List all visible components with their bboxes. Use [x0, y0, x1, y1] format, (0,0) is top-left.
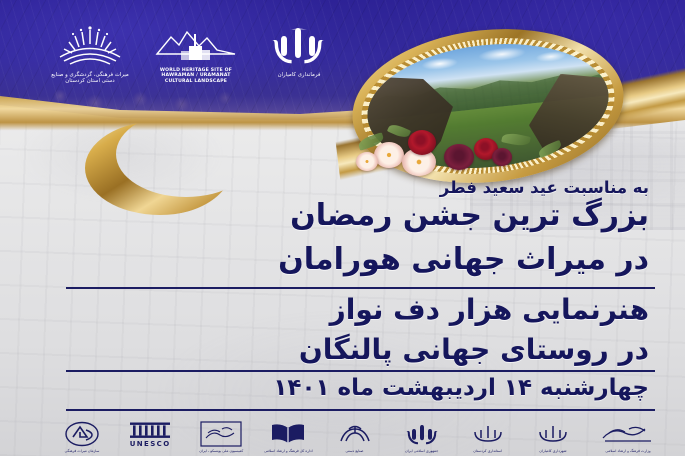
headline-line-3: هنرنمایی هزار دف نواز: [330, 293, 649, 326]
kurdistan-cultural-heritage-caption: میراث فرهنگی، گردشگری و صنایع دستی استان…: [48, 72, 132, 84]
national-commission-caption: کمیسیون ملی یونسکو ـ ایران: [199, 449, 243, 453]
leaf-4: [537, 140, 563, 158]
handicrafts-swirl-icon: [335, 421, 375, 447]
cultural-heritage-fan-icon: [48, 24, 132, 68]
handicrafts-caption: صنایع دستی: [346, 449, 364, 453]
kamyaran-city-caption: شهرداری کامیاران: [539, 449, 566, 453]
open-book-icon: [269, 421, 307, 447]
leaf-3: [501, 131, 531, 148]
ministry-culture-islamic-guidance-emblem: وزارت فرهنگ و ارشاد اسلامی: [597, 417, 659, 451]
rose-pink-1: [374, 142, 404, 168]
world-heritage-hawraman-logo: World Heritage Site Of Hawraman / Uraman…: [153, 24, 239, 86]
kurdistan-cultural-heritage-emblem: میراث فرهنگی، گردشگری و صنایع دستی استان…: [48, 24, 132, 86]
ministry-calligraphy-icon: [599, 422, 657, 446]
rose-pink-3: [356, 152, 378, 171]
heritage-circle-icon: [64, 421, 100, 447]
golden-crescent-moon: [82, 118, 242, 218]
kurdistan-province-caption: استانداری کردستان: [473, 449, 502, 453]
divider-rule-middle: [66, 370, 655, 372]
framed-calligraphy-icon: [200, 421, 242, 447]
mountain-heritage-icon: [153, 24, 239, 64]
bottom-logo-row: سازمان میراث فرهنگی UNESCO: [62, 414, 659, 454]
headline-line-1: بزرگ ترین جشن رمضان: [290, 198, 649, 233]
ministry-caption: وزارت فرهنگ و ارشاد اسلامی: [605, 449, 650, 453]
rose-maroon-2: [492, 148, 512, 166]
iran-emblem-icon-1: [402, 422, 442, 446]
world-heritage-caption-line3: Cultural Landscape: [153, 79, 239, 84]
open-book-emblem: اداره کل فرهنگ و ارشاد اسلامی: [267, 417, 309, 451]
iran-emblem-dark-caption: جمهوری اسلامی ایران: [405, 449, 438, 453]
divider-rule-bottom: [66, 409, 655, 411]
rose-cluster: [352, 118, 592, 184]
top-logo-row: میراث فرهنگی، گردشگری و صنایع دستی استان…: [48, 22, 338, 88]
iran-national-commission-unesco-emblem: کمیسیون ملی یونسکو ـ ایران: [198, 417, 244, 451]
occasion-line: به مناسبت عید سعید فطر: [440, 178, 649, 197]
iran-emblem-icon-3: [535, 422, 571, 446]
unesco-logo: UNESCO: [125, 417, 175, 451]
unesco-temple-icon: [128, 421, 172, 439]
handicrafts-emblem: صنایع دستی: [333, 417, 377, 451]
iran-emblem-kurdistan-province: استانداری کردستان: [467, 417, 509, 451]
rose-maroon-1: [444, 144, 474, 170]
crescent-moon-icon: [82, 118, 242, 218]
iran-emblem-dark: جمهوری اسلامی ایران: [400, 417, 444, 451]
iran-emblem-kamyaran-city: شهرداری کامیاران: [532, 417, 574, 451]
headline-line-2: در میراث جهانی هورامان: [278, 242, 649, 277]
leaf-2: [387, 122, 411, 140]
poster-canvas: میراث فرهنگی، گردشگری و صنایع دستی استان…: [0, 0, 685, 456]
cultural-heritage-organization-caption: سازمان میراث فرهنگی: [65, 449, 100, 453]
headline-line-4: در روستای جهانی پالنگان: [299, 333, 649, 366]
cultural-heritage-organization-emblem: سازمان میراث فرهنگی: [62, 417, 102, 451]
divider-rule-top: [66, 287, 655, 289]
iran-emblem-kamyaran-governorate: فرمانداری کامیاران: [260, 24, 338, 86]
unesco-wordmark: UNESCO: [130, 440, 171, 448]
iran-emblem-icon-2: [470, 422, 506, 446]
event-date: چهارشنبه ۱۴ اردیبهشت ماه ۱۴۰۱: [273, 375, 649, 401]
rose-red-1: [408, 130, 436, 155]
kamyaran-governorate-caption: فرمانداری کامیاران: [260, 72, 338, 78]
iran-national-emblem-icon: [260, 24, 338, 68]
open-book-caption: اداره کل فرهنگ و ارشاد اسلامی: [264, 449, 313, 453]
